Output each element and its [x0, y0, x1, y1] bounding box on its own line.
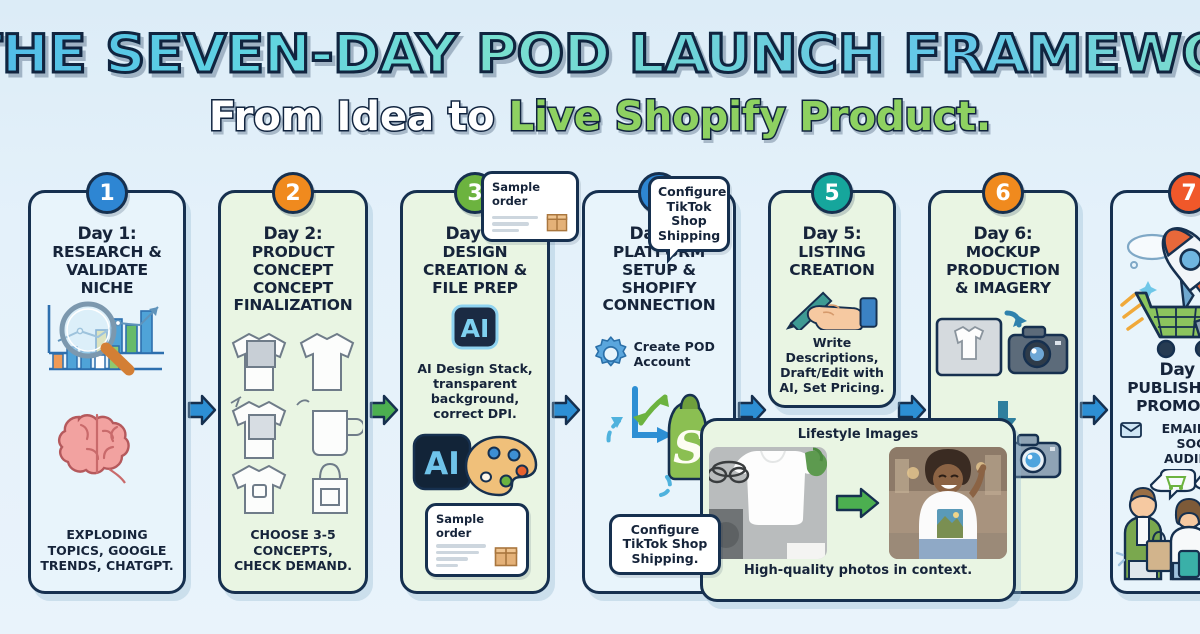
svg-text:AI: AI — [461, 314, 490, 343]
tshirt-mockup-frame-icon — [933, 303, 1073, 399]
step-day-5: Day 5: — [778, 225, 886, 244]
step-card-2[interactable]: 2 Day 2: PRODUCT CONCEPT CONCEPT FINALIZ… — [218, 190, 368, 594]
subtitle-part-green: Live Shopify Product. — [509, 94, 992, 140]
ai-badge-icon: AI — [451, 304, 499, 355]
step-badge-6: 6 — [982, 172, 1024, 214]
step-title-6: Day 6: MOCKUP PRODUCTION & IMAGERY — [938, 225, 1068, 297]
brain-icon — [51, 395, 163, 491]
step-note-3: AI Design Stack, transparent background,… — [410, 361, 540, 421]
package-box-icon — [494, 545, 518, 567]
step-title-7: Day 7: PUBLISHING & PROMOTION — [1120, 361, 1200, 416]
launch-promotion-icon — [1114, 209, 1200, 367]
lifestyle-photo-row — [709, 447, 1007, 559]
step-badge-5: 5 — [811, 172, 853, 214]
step-day-1: Day 1: — [38, 225, 176, 244]
step-badge-2: 2 — [272, 172, 314, 214]
flatlay-tshirt-photo — [709, 447, 827, 559]
step-title-5: Day 5: LISTING CREATION — [778, 225, 886, 280]
envelope-icon — [1120, 422, 1142, 438]
step-day-2: Day 2: — [228, 225, 358, 244]
lifestyle-transform-arrow — [835, 486, 881, 520]
callout-tiktok-top[interactable]: Configure TikTok Shop Shipping — [648, 176, 730, 252]
lifestyle-footer: High-quality photos in context. — [744, 563, 972, 578]
page-title: THE SEVEN-DAY POD LAUNCH FRAMEWORK: — [0, 24, 1200, 85]
svg-text:AI: AI — [424, 446, 460, 482]
sample-order-card-bottom[interactable]: Sample order — [425, 503, 529, 577]
lifestyle-images-panel[interactable]: Lifestyle Images — [700, 418, 1016, 602]
title-block: THE SEVEN-DAY POD LAUNCH FRAMEWORK: From… — [0, 24, 1200, 140]
lifestyle-title: Lifestyle Images — [798, 427, 918, 442]
step-day-6: Day 6: — [938, 225, 1068, 244]
step-badge-1: 1 — [86, 172, 128, 214]
step-title-1: Day 1: RESEARCH & VALIDATE NICHE — [38, 225, 176, 297]
arrow-3-to-4 — [550, 393, 582, 427]
arrow-6-to-7 — [1078, 393, 1110, 427]
package-box-icon-top — [546, 212, 568, 232]
step-footer-1: EXPLODING TOPICS, GOOGLE TRENDS, CHATGPT… — [38, 527, 176, 581]
ai-palette-icon: AI — [410, 429, 540, 505]
step-note-5: Write Descriptions, Draft/Edit with AI, … — [778, 335, 886, 395]
arrow-1-to-2 — [186, 393, 218, 427]
arrow-2-to-3 — [368, 393, 400, 427]
step-footer-2: CHOOSE 3-5 CONCEPTS, CHECK DEMAND. — [228, 527, 358, 581]
model-lifestyle-photo — [889, 447, 1007, 559]
people-group-icon — [1113, 469, 1200, 581]
subtitle-part-white: From Idea to — [209, 94, 509, 140]
magnifier-bar-chart-icon — [36, 297, 178, 393]
step-badge-7: 7 — [1168, 172, 1200, 214]
infographic-root: THE SEVEN-DAY POD LAUNCH FRAMEWORK: From… — [0, 0, 1200, 634]
step-card-5[interactable]: 5 Day 5: LISTING CREATION Write Descript… — [768, 190, 896, 408]
step-card-3[interactable]: 3 Day 3: DESIGN CREATION & FILE PREP AI … — [400, 190, 550, 594]
page-subtitle: From Idea to Live Shopify Product. — [0, 94, 1200, 140]
product-sketches-icon — [223, 319, 363, 515]
step-card-7[interactable]: 7 — [1110, 190, 1200, 594]
hand-writing-pencil-icon — [778, 284, 886, 330]
step-day-7: Day 7: — [1120, 361, 1200, 380]
step-note-7: EMAIL LIST, SOCIAL AUDIENCE, — [1146, 421, 1200, 466]
callout-tiktok-bottom[interactable]: Configure TikTok Shop Shipping. — [609, 514, 721, 576]
gear-icon — [592, 325, 630, 383]
step-card-1[interactable]: 1 Day 1: RESEARCH & VALIDATE NICHE — [28, 190, 186, 594]
step-title-2: Day 2: PRODUCT CONCEPT CONCEPT FINALIZAT… — [228, 225, 358, 315]
sample-order-card-top[interactable]: Sample order — [481, 171, 579, 242]
sample-order-label-top: Sample order — [492, 180, 568, 208]
step-note-4: Create POD Account — [634, 339, 726, 370]
sample-order-label: Sample order — [436, 512, 518, 540]
